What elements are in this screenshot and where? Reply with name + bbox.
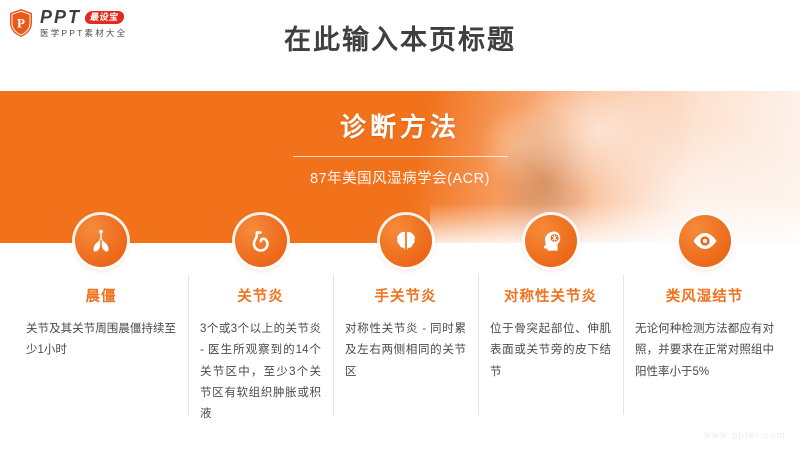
criteria-title: 晨僵: [86, 285, 117, 306]
criteria-body: 关节及其关节周围晨僵持续至少1小时: [26, 319, 176, 362]
criteria-column[interactable]: 晨僵 关节及其关节周围晨僵持续至少1小时: [14, 215, 188, 362]
banner-content: 诊断方法 87年美国风湿病学会(ACR): [0, 113, 800, 188]
criteria-body: 位于骨突起部位、伸肌表面或关节旁的皮下结节: [490, 319, 611, 383]
criteria-column[interactable]: 类风湿结节 无论何种检测方法都应有对照，并要求在正常对照组中阳性率小于5%: [623, 215, 786, 383]
banner-subtitle: 87年美国风湿病学会(ACR): [0, 167, 800, 188]
banner-title: 诊断方法: [0, 113, 800, 142]
criteria-title: 类风湿结节: [666, 285, 744, 306]
stomach-icon: [235, 215, 287, 267]
brain-icon: [380, 215, 432, 267]
lungs-icon: [75, 215, 127, 267]
criteria-title: 对称性关节炎: [504, 285, 597, 306]
footer-watermark: www.ppter.com: [704, 430, 786, 440]
criteria-column[interactable]: 关节炎 3个或3个以上的关节炎 - 医生所观察到的14个关节区中，至少3个关节区…: [188, 215, 333, 425]
criteria-title: 关节炎: [237, 285, 284, 306]
banner-divider: [293, 156, 508, 157]
criteria-body: 无论何种检测方法都应有对照，并要求在正常对照组中阳性率小于5%: [635, 319, 774, 383]
criteria-body: 3个或3个以上的关节炎 - 医生所观察到的14个关节区中，至少3个关节区有软组织…: [200, 319, 321, 425]
criteria-columns: 晨僵 关节及其关节周围晨僵持续至少1小时 关节炎 3个或3个以上的关节炎 - 医…: [14, 215, 786, 425]
criteria-title: 手关节炎: [375, 285, 437, 306]
page-title: 在此输入本页标题: [0, 18, 800, 57]
criteria-column[interactable]: 对称性关节炎 位于骨突起部位、伸肌表面或关节旁的皮下结节: [478, 215, 623, 383]
eye-icon: [679, 215, 731, 267]
criteria-column[interactable]: 手关节炎 对称性关节炎 - 同时累及左右两侧相同的关节区: [333, 215, 478, 383]
criteria-body: 对称性关节炎 - 同时累及左右两侧相同的关节区: [345, 319, 466, 383]
head-brain-icon: [525, 215, 577, 267]
